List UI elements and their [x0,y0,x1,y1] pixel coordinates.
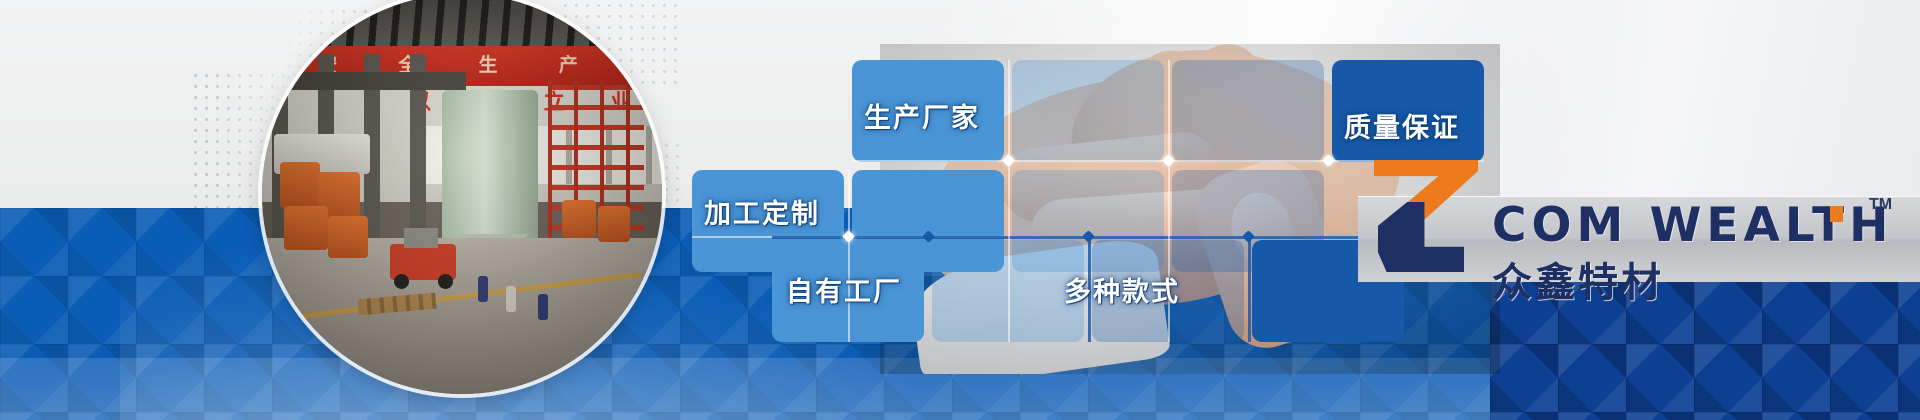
tile-label-custom-processing: 加工定制 [704,192,820,231]
tile-label-quality-assurance: 质量保证 [1344,106,1460,145]
tile-label-manufacturer: 生产厂家 [864,96,980,135]
trademark-symbol: TM [1869,196,1892,214]
logo-accent-square [1830,206,1843,222]
tile-label-multiple-styles: 多种款式 [1064,270,1180,309]
logo-chinese-name: 众鑫特材 [1492,250,1664,308]
tile-decor [1172,60,1324,162]
tile-decor [1012,60,1164,162]
factory-photo: 安 全 生 产 以 精 立 业 [262,0,662,394]
logo-navy-shape [1378,202,1464,272]
company-logo-icon [1368,150,1480,270]
grid-line [1008,60,1010,342]
tile-label-own-factory: 自有工厂 [786,270,902,309]
logo-orange-shape [1374,160,1478,222]
grid-line [848,170,850,342]
promo-banner: 安 全 生 产 以 精 立 业 [0,0,1920,420]
grid-line [1248,240,1251,342]
